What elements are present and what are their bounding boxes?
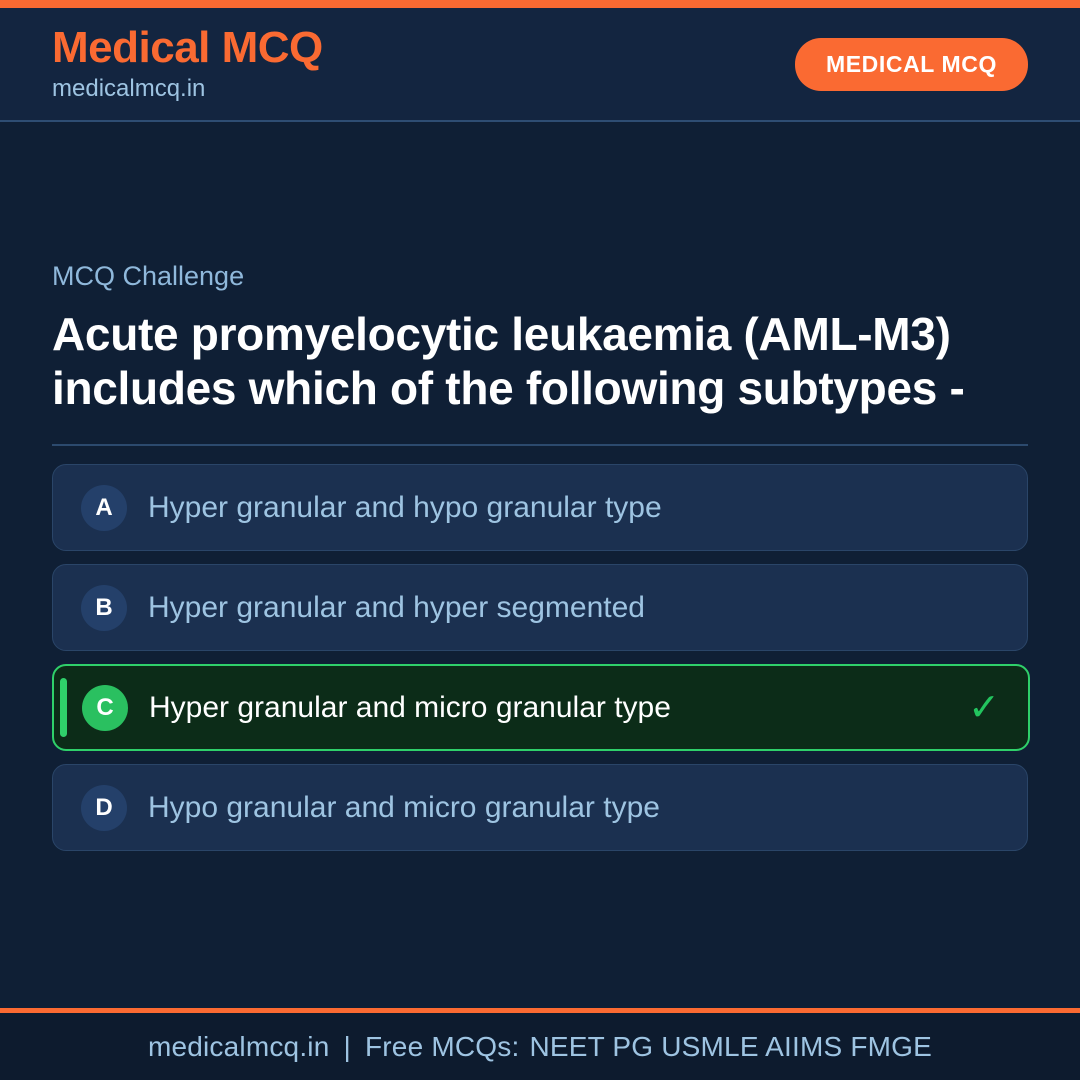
option-letter-badge: C [82, 685, 128, 731]
option-row-d[interactable]: D Hypo granular and micro granular type [52, 764, 1028, 851]
footer-text: medicalmcq.in|Free MCQs:NEET PG USMLE AI… [148, 1031, 932, 1063]
eyebrow-label: MCQ Challenge [52, 260, 1028, 292]
options-list: A Hyper granular and hypo granular type … [52, 464, 1028, 851]
correct-accent-bar [60, 678, 67, 737]
option-letter-badge: D [81, 785, 127, 831]
option-row-c[interactable]: C Hyper granular and micro granular type… [52, 664, 1030, 751]
option-label: Hypo granular and micro granular type [148, 790, 983, 826]
check-icon: ✓ [968, 689, 1000, 727]
brand-title: Medical MCQ [52, 25, 323, 71]
question-text: Acute promyelocytic leukaemia (AML-M3) i… [52, 308, 982, 415]
page-header: Medical MCQ medicalmcq.in MEDICAL MCQ [0, 8, 1080, 122]
footer-exams: NEET PG USMLE AIIMS FMGE [519, 1031, 932, 1062]
option-letter-badge: A [81, 485, 127, 531]
option-letter-badge: B [81, 585, 127, 631]
top-accent-bar [0, 0, 1080, 8]
footer-label: Free MCQs: [365, 1031, 519, 1062]
option-label: Hyper granular and micro granular type [149, 690, 952, 726]
page-footer: medicalmcq.in|Free MCQs:NEET PG USMLE AI… [0, 1008, 1080, 1080]
footer-site: medicalmcq.in [148, 1031, 330, 1062]
brand-block: Medical MCQ medicalmcq.in [52, 25, 323, 104]
footer-separator: | [330, 1031, 365, 1062]
option-row-b[interactable]: B Hyper granular and hyper segmented [52, 564, 1028, 651]
section-divider [52, 444, 1028, 446]
brand-subtitle: medicalmcq.in [52, 75, 323, 104]
option-row-a[interactable]: A Hyper granular and hypo granular type [52, 464, 1028, 551]
mcq-card-page: Medical MCQ medicalmcq.in MEDICAL MCQ MC… [0, 0, 1080, 1080]
option-label: Hyper granular and hypo granular type [148, 490, 983, 526]
main-content: MCQ Challenge Acute promyelocytic leukae… [0, 122, 1080, 1008]
header-badge: MEDICAL MCQ [795, 38, 1028, 91]
option-label: Hyper granular and hyper segmented [148, 590, 983, 626]
